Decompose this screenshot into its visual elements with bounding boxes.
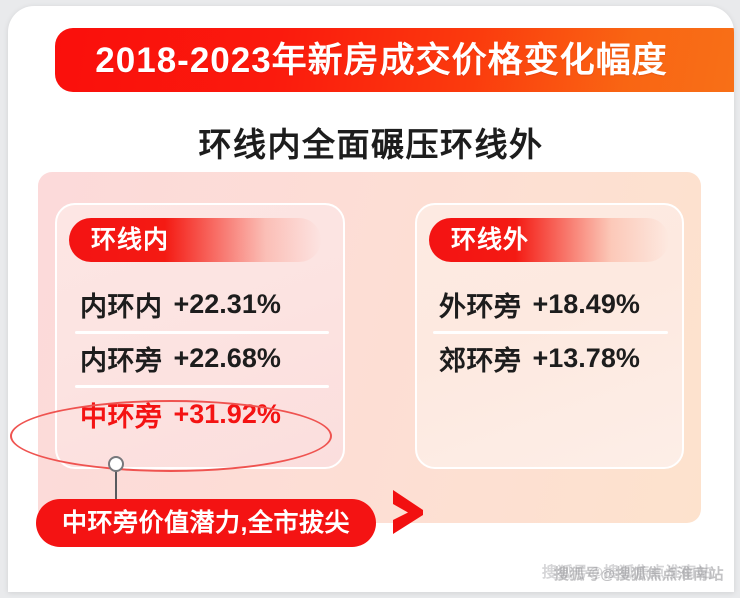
- row-label: 内环旁: [80, 339, 163, 378]
- data-row-highlighted: 中环旁 +31.92%: [57, 385, 343, 443]
- row-label: 内环内: [80, 285, 163, 324]
- callout-pill: 中环旁价值潜力,全市拔尖: [36, 499, 376, 547]
- group-badge-label: 环线外: [451, 228, 529, 253]
- callout-text: 中环旁价值潜力,全市拔尖: [62, 511, 350, 536]
- comparison-panel: 环线内 内环内 +22.31% 内环旁 +22.68% 中环旁 +31.92%: [38, 172, 701, 523]
- group-rows-inner-ring: 内环内 +22.31% 内环旁 +22.68% 中环旁 +31.92%: [57, 277, 343, 443]
- title-banner: 2018-2023年新房成交价格变化幅度: [55, 28, 734, 92]
- watermark-secondary: 搜狐号@搜狐焦点淮南站: [542, 561, 712, 582]
- group-badge-label: 环线内: [91, 228, 169, 253]
- row-label: 外环旁: [439, 285, 522, 324]
- data-row: 内环内 +22.31%: [57, 277, 343, 331]
- data-row: 外环旁 +18.49%: [417, 277, 682, 331]
- group-badge-outer-ring: 环线外: [429, 218, 669, 262]
- callout-anchor-dot: [108, 456, 124, 472]
- data-row: 内环旁 +22.68%: [57, 331, 343, 385]
- row-label: 中环旁: [80, 395, 163, 434]
- row-value: +31.92%: [174, 399, 281, 430]
- group-badge-inner-ring: 环线内: [69, 218, 321, 262]
- page-subtitle: 环线内全面碾压环线外: [8, 124, 734, 165]
- infographic-screen: 2018-2023年新房成交价格变化幅度 环线内全面碾压环线外 环线内 内环内 …: [0, 0, 740, 598]
- greater-than-icon: [389, 488, 429, 536]
- page-card: 2018-2023年新房成交价格变化幅度 环线内全面碾压环线外 环线内 内环内 …: [8, 6, 734, 592]
- group-rows-outer-ring: 外环旁 +18.49% 郊环旁 +13.78%: [417, 277, 682, 385]
- row-value: +18.49%: [533, 289, 640, 320]
- row-label: 郊环旁: [439, 339, 522, 378]
- row-value: +13.78%: [533, 343, 640, 374]
- page-title: 2018-2023年新房成交价格变化幅度: [95, 43, 667, 78]
- data-row: 郊环旁 +13.78%: [417, 331, 682, 385]
- row-value: +22.68%: [174, 343, 281, 374]
- row-value: +22.31%: [174, 289, 281, 320]
- group-card-outer-ring: 环线外 外环旁 +18.49% 郊环旁 +13.78%: [415, 203, 684, 469]
- group-card-inner-ring: 环线内 内环内 +22.31% 内环旁 +22.68% 中环旁 +31.92%: [55, 203, 345, 469]
